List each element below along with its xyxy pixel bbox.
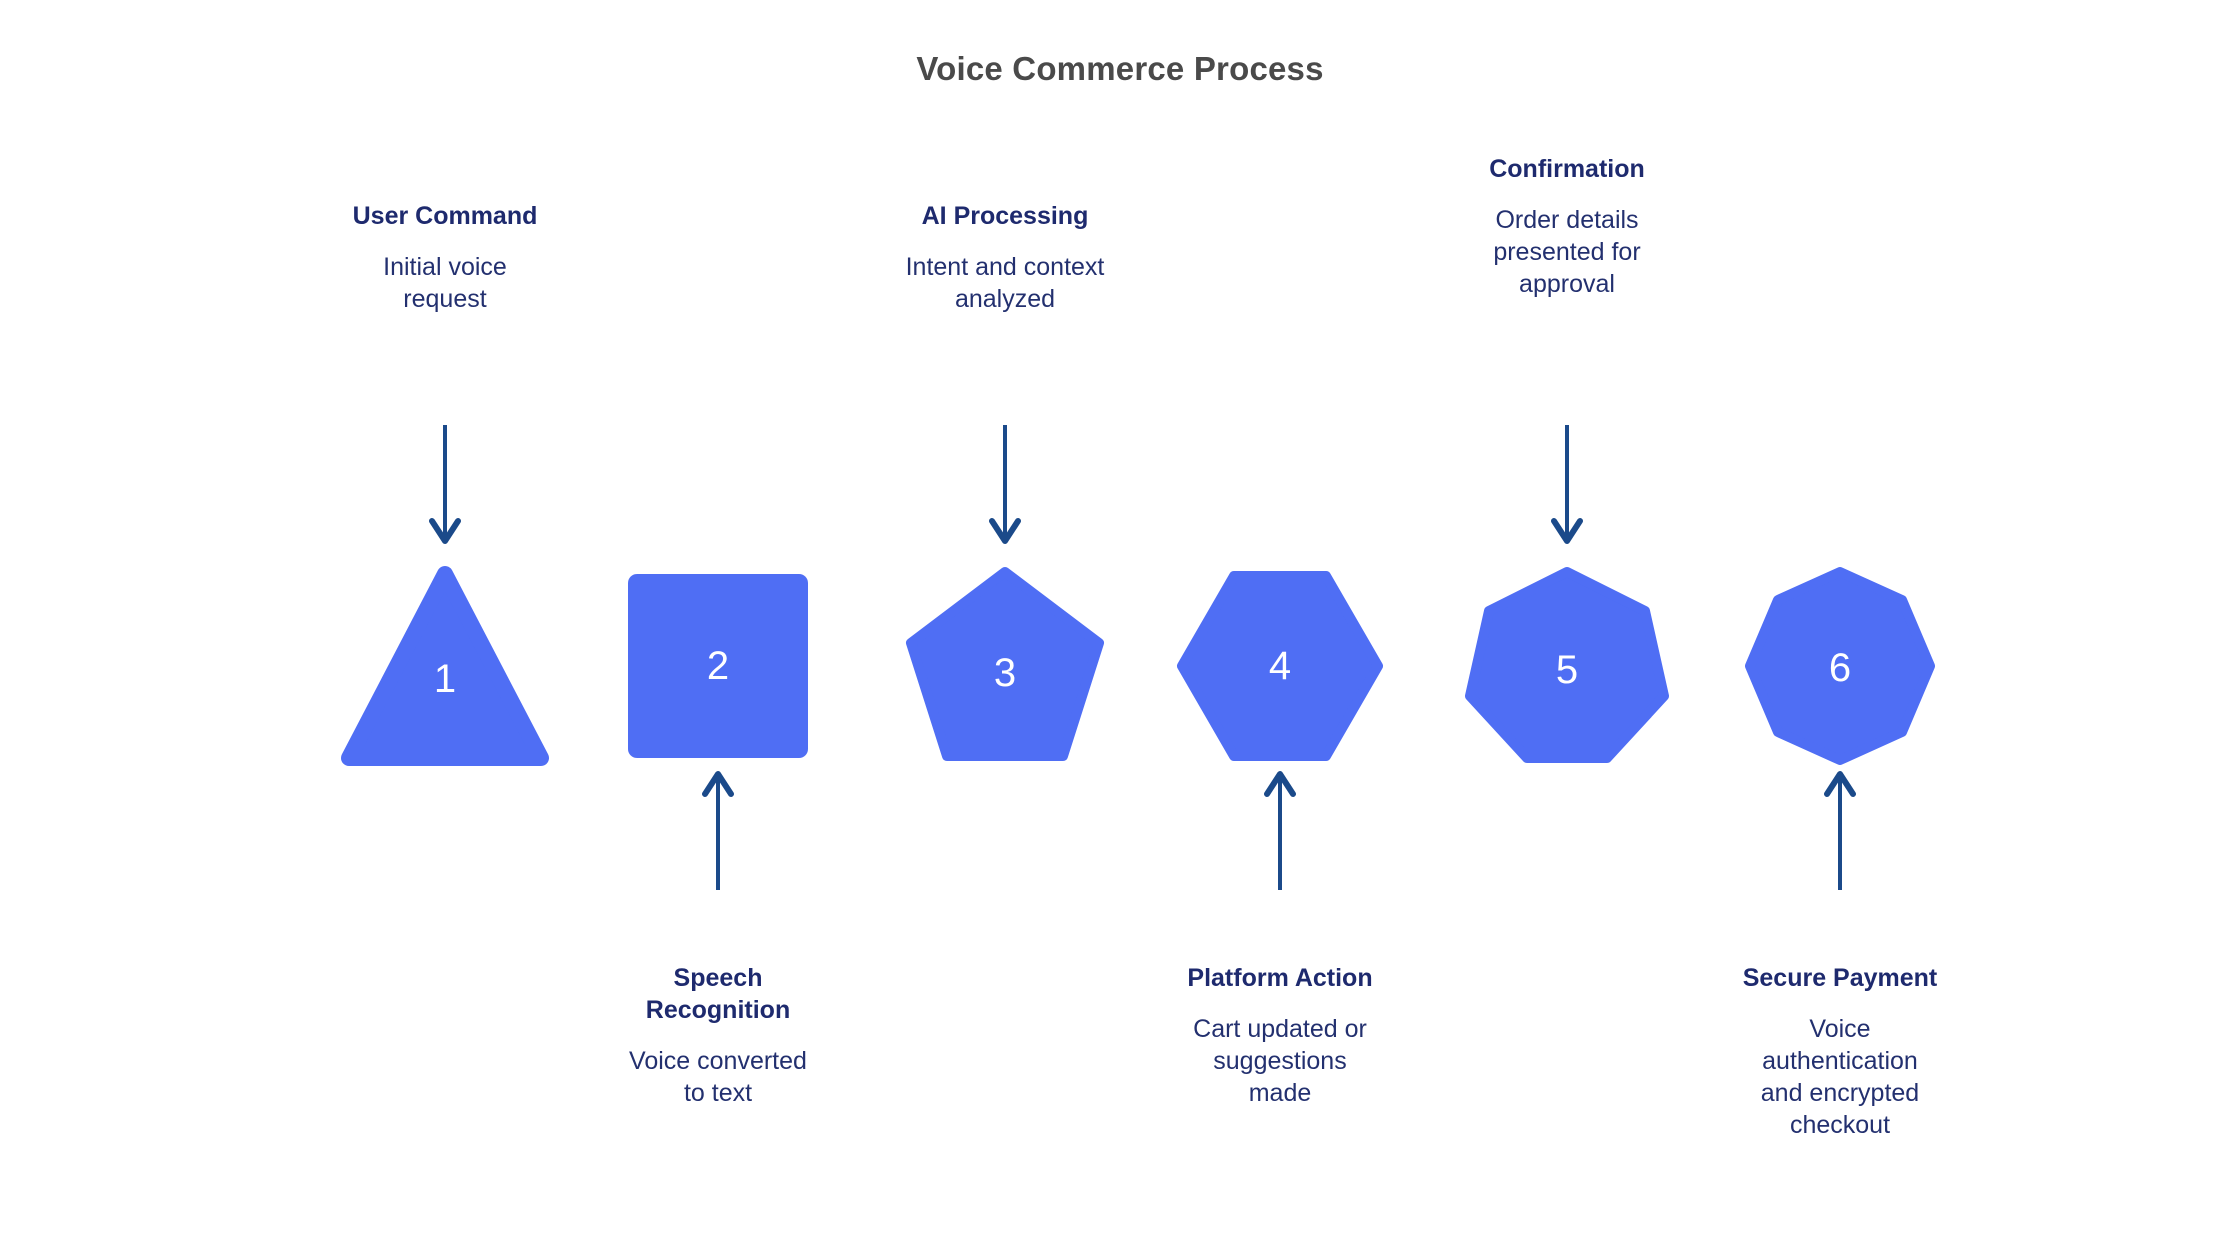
process-step-3: AI Processing Intent and context analyze… — [875, 0, 1135, 1260]
process-step-5: Confirmation Order details presented for… — [1437, 0, 1697, 1260]
step-1-title: User Command — [315, 200, 575, 232]
step-1-shape-triangle[interactable]: 1 — [315, 566, 575, 766]
step-5-label: Confirmation Order details presented for… — [1437, 153, 1697, 300]
step-3-shape-pentagon[interactable]: 3 — [875, 566, 1135, 766]
process-step-1: User Command Initial voice request 1 — [315, 0, 575, 1260]
diagram-canvas: Voice Commerce Process User Command Init… — [0, 0, 2240, 1260]
step-5-description: Order details presented for approval — [1437, 204, 1697, 300]
step-6-description: Voice authentication and encrypted check… — [1710, 1013, 1970, 1141]
step-6-label: Secure Payment Voice authentication and … — [1710, 962, 1970, 1141]
step-2-shape-square[interactable]: 2 — [588, 566, 848, 766]
step-3-title: AI Processing — [875, 200, 1135, 232]
process-step-4: Platform Action Cart updated or suggesti… — [1150, 0, 1410, 1260]
step-6-title: Secure Payment — [1710, 962, 1970, 994]
step-3-arrow-down — [988, 425, 1022, 550]
step-1-label: User Command Initial voice request — [315, 200, 575, 315]
step-4-label: Platform Action Cart updated or suggesti… — [1150, 962, 1410, 1109]
step-1-description: Initial voice request — [315, 251, 575, 315]
step-3-label: AI Processing Intent and context analyze… — [875, 200, 1135, 315]
step-5-shape-heptagon[interactable]: 5 — [1437, 566, 1697, 766]
step-5-arrow-down — [1550, 425, 1584, 550]
step-1-arrow-down — [428, 425, 462, 550]
step-2-arrow-up — [701, 770, 735, 895]
step-4-description: Cart updated or suggestions made — [1150, 1013, 1410, 1109]
process-step-6: Secure Payment Voice authentication and … — [1710, 0, 1970, 1260]
step-5-title: Confirmation — [1437, 153, 1697, 185]
step-4-arrow-up — [1263, 770, 1297, 895]
process-step-2: Speech Recognition Voice converted to te… — [588, 0, 848, 1260]
step-4-shape-hexagon[interactable]: 4 — [1150, 566, 1410, 766]
step-4-title: Platform Action — [1150, 962, 1410, 994]
step-2-title: Speech Recognition — [588, 962, 848, 1026]
step-3-description: Intent and context analyzed — [875, 251, 1135, 315]
step-2-label: Speech Recognition Voice converted to te… — [588, 962, 848, 1109]
step-2-description: Voice converted to text — [588, 1045, 848, 1109]
step-6-arrow-up — [1823, 770, 1857, 895]
step-6-shape-octagon[interactable]: 6 — [1710, 566, 1970, 766]
